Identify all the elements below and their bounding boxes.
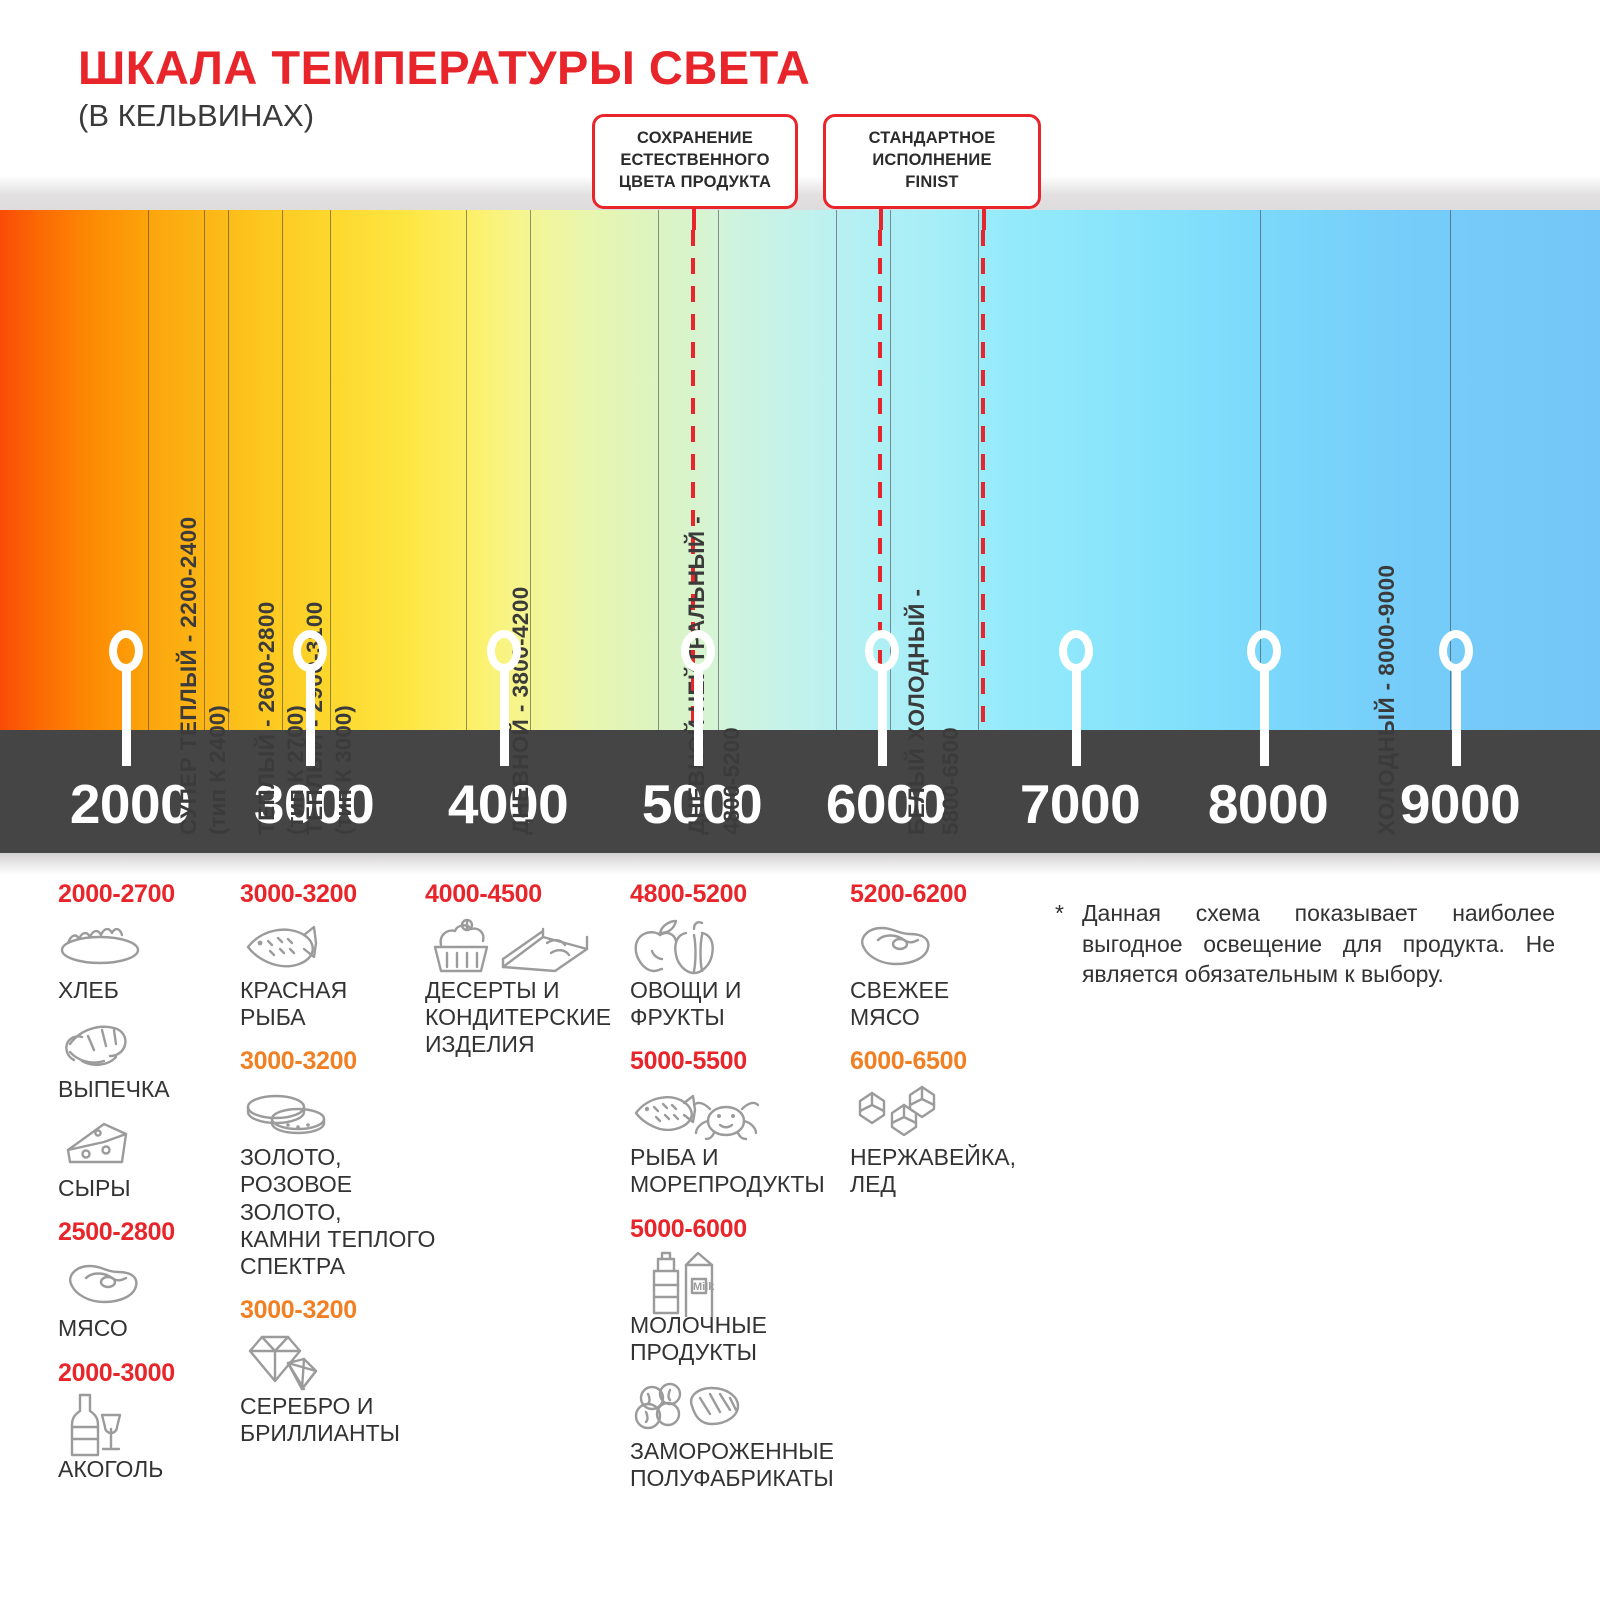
legend-range-label: 2000-2700 <box>58 880 238 909</box>
legend-group: 4800-5200ОВОЩИ ИФРУКТЫ <box>630 880 860 1031</box>
legend-item[interactable]: ЗАМОРОЖЕННЫЕПОЛУФАБРИКАТЫ <box>630 1380 860 1492</box>
legend-range-label: 6000-6500 <box>850 1047 1050 1076</box>
band-separator <box>330 210 331 730</box>
legend-group: 2000-2700ХЛЕБВЫПЕЧКАСЫРЫ <box>58 880 238 1202</box>
pin-stem <box>500 668 509 766</box>
pin-head <box>1059 630 1093 672</box>
legend-item[interactable]: НЕРЖАВЕЙКА,ЛЕД <box>850 1086 1050 1198</box>
band-label-main: ДНЕВНОЙ - 3800-4200 <box>508 586 534 835</box>
legend-range-label: 4000-4500 <box>425 880 625 909</box>
legend-item-label: СЕРЕБРО ИБРИЛЛИАНТЫ <box>240 1393 440 1447</box>
legend-range-label: 5000-6000 <box>630 1215 860 1244</box>
bread-icon <box>58 919 238 973</box>
spectrum-bar: СУПЕР ТЕПЛЫЙ - 2200-2400(тип К 2400)ТЕПЛ… <box>0 210 1600 730</box>
band-separator <box>718 210 719 730</box>
callout-natural-color[interactable]: СОХРАНЕНИЕЕСТЕСТВЕННОГОЦВЕТА ПРОДУКТА <box>592 114 798 209</box>
band-label-sub: 4800-5200 <box>719 727 745 835</box>
croissant-icon <box>58 1018 238 1072</box>
pin-head <box>293 630 327 672</box>
pin-head <box>109 630 143 672</box>
band-label-sub: 5800-6500 <box>938 727 964 835</box>
legend-item[interactable]: АКОГОЛЬ <box>58 1398 238 1483</box>
legend-group: 6000-6500НЕРЖАВЕЙКА,ЛЕД <box>850 1047 1050 1198</box>
legend-column-2: 3000-3200КРАСНАЯРЫБА3000-3200ЗОЛОТО,РОЗО… <box>240 880 440 1463</box>
milk-icon: Milk <box>630 1254 860 1308</box>
legend-range-label: 3000-3200 <box>240 1047 440 1076</box>
legend-item-label: ХЛЕБ <box>58 977 238 1004</box>
legend-range-label: 5000-5500 <box>630 1047 860 1076</box>
band-label-sub: (тип К 3000) <box>331 705 357 835</box>
page-title: ШКАЛА ТЕМПЕРАТУРЫ СВЕТА <box>78 40 810 95</box>
legend-column-4: 4800-5200ОВОЩИ ИФРУКТЫ5000-5500РЫБА ИМОР… <box>630 880 860 1508</box>
legend-range-label: 3000-3200 <box>240 1296 440 1325</box>
legend-item-label: ОВОЩИ ИФРУКТЫ <box>630 977 860 1031</box>
legend-item[interactable]: МЯСО <box>58 1257 238 1342</box>
band-separator <box>228 210 229 730</box>
scale-tick-8000: 8000 <box>1208 772 1328 836</box>
page-subtitle: (В КЕЛЬВИНАХ) <box>78 98 314 134</box>
pin-stem <box>878 668 887 766</box>
legend-group: 4000-4500ДЕСЕРТЫ ИКОНДИТЕРСКИЕИЗДЕЛИЯ <box>425 880 625 1058</box>
legend-item-label: АКОГОЛЬ <box>58 1456 238 1483</box>
legend-item-label: МОЛОЧНЫЕ ПРОДУКТЫ <box>630 1312 860 1366</box>
band-separator <box>978 210 979 730</box>
legend-item[interactable]: ОВОЩИ ИФРУКТЫ <box>630 919 860 1031</box>
legend-column-5: 5200-6200СВЕЖЕЕМЯСО6000-6500НЕРЖАВЕЙКА,Л… <box>850 880 1050 1215</box>
legend-group: 2500-2800МЯСО <box>58 1218 238 1342</box>
fish-icon <box>240 919 440 973</box>
header: ШКАЛА ТЕМПЕРАТУРЫ СВЕТА (В КЕЛЬВИНАХ) <box>0 0 1600 205</box>
ice-icon <box>850 1086 1050 1140</box>
legend-item[interactable]: MilkМОЛОЧНЫЕ ПРОДУКТЫ <box>630 1254 860 1366</box>
legend-item-label: ВЫПЕЧКА <box>58 1076 238 1103</box>
legend-item[interactable]: СЫРЫ <box>58 1117 238 1202</box>
legend-group: 5200-6200СВЕЖЕЕМЯСО <box>850 880 1050 1031</box>
dessert-icon <box>425 919 625 973</box>
legend-column-1: 2000-2700ХЛЕБВЫПЕЧКАСЫРЫ2500-2800МЯСО200… <box>58 880 238 1499</box>
legend-group: 3000-3200КРАСНАЯРЫБА <box>240 880 440 1031</box>
svg-text:Milk: Milk <box>693 1281 715 1293</box>
legend-range-label: 2500-2800 <box>58 1218 238 1247</box>
footnote-text: Данная схема показывает наиболее выгодно… <box>1082 898 1555 990</box>
alcohol-icon <box>58 1398 238 1452</box>
legend-group: 3000-3200СЕРЕБРО ИБРИЛЛИАНТЫ <box>240 1296 440 1447</box>
pin-stem <box>306 668 315 766</box>
legend-item[interactable]: РЫБА ИМОРЕПРОДУКТЫ <box>630 1086 860 1198</box>
legend-range-label: 3000-3200 <box>240 880 440 909</box>
steak-icon <box>58 1257 238 1311</box>
band-separator <box>466 210 467 730</box>
scale-bar-shadow <box>0 853 1600 875</box>
legend-item[interactable]: КРАСНАЯРЫБА <box>240 919 440 1031</box>
band-separator <box>836 210 837 730</box>
legend-item-label: СВЕЖЕЕМЯСО <box>850 977 1050 1031</box>
fresh-meat-icon <box>850 919 1050 973</box>
legend-item-label: КРАСНАЯРЫБА <box>240 977 440 1031</box>
scale-tick-7000: 7000 <box>1020 772 1140 836</box>
legend-column-3: 4000-4500ДЕСЕРТЫ ИКОНДИТЕРСКИЕИЗДЕЛИЯ <box>425 880 625 1074</box>
band-separator <box>148 210 149 730</box>
vegetables-icon <box>630 919 860 973</box>
band-label-main: ХОЛОДНЫЙ - 8000-9000 <box>1374 565 1400 835</box>
pin-head <box>1247 630 1281 672</box>
legend-item-label: РЫБА ИМОРЕПРОДУКТЫ <box>630 1144 860 1198</box>
pin-stem <box>694 668 703 766</box>
frozen-icon <box>630 1380 860 1434</box>
pin-stem <box>1072 668 1081 766</box>
band-separator <box>204 210 205 730</box>
rings-icon <box>240 1086 440 1140</box>
band-separator <box>282 210 283 730</box>
pin-stem <box>1260 668 1269 766</box>
legend-item-label: МЯСО <box>58 1315 238 1342</box>
legend-item[interactable]: ДЕСЕРТЫ ИКОНДИТЕРСКИЕИЗДЕЛИЯ <box>425 919 625 1058</box>
scale-tick-9000: 9000 <box>1400 772 1520 836</box>
legend-range-label: 4800-5200 <box>630 880 860 909</box>
spectrum-gradient <box>0 210 1600 730</box>
band-label-sub: (тип К 2400) <box>205 705 231 835</box>
cheese-icon <box>58 1117 238 1171</box>
band-separator <box>658 210 659 730</box>
pin-head <box>681 630 715 672</box>
band-label-main: БЕЛЫЙ ХОЛОДНЫЙ - <box>904 589 930 835</box>
legend-item-label: ЗАМОРОЖЕННЫЕПОЛУФАБРИКАТЫ <box>630 1438 860 1492</box>
footnote: * Данная схема показывает наиболее выгод… <box>1055 898 1555 990</box>
pin-stem <box>1452 668 1461 766</box>
legend-group: 5000-5500РЫБА ИМОРЕПРОДУКТЫ <box>630 1047 860 1198</box>
legend-item-label: ЗОЛОТО,РОЗОВОЕ ЗОЛОТО,КАМНИ ТЕПЛОГОСПЕКТ… <box>240 1144 440 1280</box>
legend-item-label: НЕРЖАВЕЙКА,ЛЕД <box>850 1144 1050 1198</box>
pin-head <box>865 630 899 672</box>
legend-group: 5000-6000MilkМОЛОЧНЫЕ ПРОДУКТЫЗАМОРОЖЕНН… <box>630 1215 860 1493</box>
band-label-main: СУПЕР ТЕПЛЫЙ - 2200-2400 <box>176 517 202 836</box>
top-shadow-strip <box>0 176 1600 210</box>
legend-item-label: ДЕСЕРТЫ ИКОНДИТЕРСКИЕИЗДЕЛИЯ <box>425 977 625 1058</box>
legend-item-label: СЫРЫ <box>58 1175 238 1202</box>
pin-head <box>1439 630 1473 672</box>
legend-group: 3000-3200ЗОЛОТО,РОЗОВОЕ ЗОЛОТО,КАМНИ ТЕП… <box>240 1047 440 1280</box>
legend-item[interactable]: ЗОЛОТО,РОЗОВОЕ ЗОЛОТО,КАМНИ ТЕПЛОГОСПЕКТ… <box>240 1086 440 1280</box>
callout-finist-standard[interactable]: СТАНДАРТНОЕИСПОЛНЕНИЕFINIST <box>823 114 1041 209</box>
legend-item[interactable]: СВЕЖЕЕМЯСО <box>850 919 1050 1031</box>
pin-stem <box>122 668 131 766</box>
footnote-star: * <box>1055 898 1064 990</box>
legend-range-label: 5200-6200 <box>850 880 1050 909</box>
dashed-guide-6500 <box>981 230 985 730</box>
legend-item[interactable]: СЕРЕБРО ИБРИЛЛИАНТЫ <box>240 1335 440 1447</box>
legend-item[interactable]: ВЫПЕЧКА <box>58 1018 238 1103</box>
scale-tick-2000: 2000 <box>70 772 190 836</box>
legend-item[interactable]: ХЛЕБ <box>58 919 238 1004</box>
pin-head <box>487 630 521 672</box>
seafood-icon <box>630 1086 860 1140</box>
diamond-icon <box>240 1335 440 1389</box>
legend-group: 2000-3000АКОГОЛЬ <box>58 1359 238 1483</box>
band-label-main: ТЕПЛЫЙ - 2600-2800 <box>254 601 280 835</box>
scale-bar <box>0 730 1600 853</box>
legend-range-label: 2000-3000 <box>58 1359 238 1388</box>
